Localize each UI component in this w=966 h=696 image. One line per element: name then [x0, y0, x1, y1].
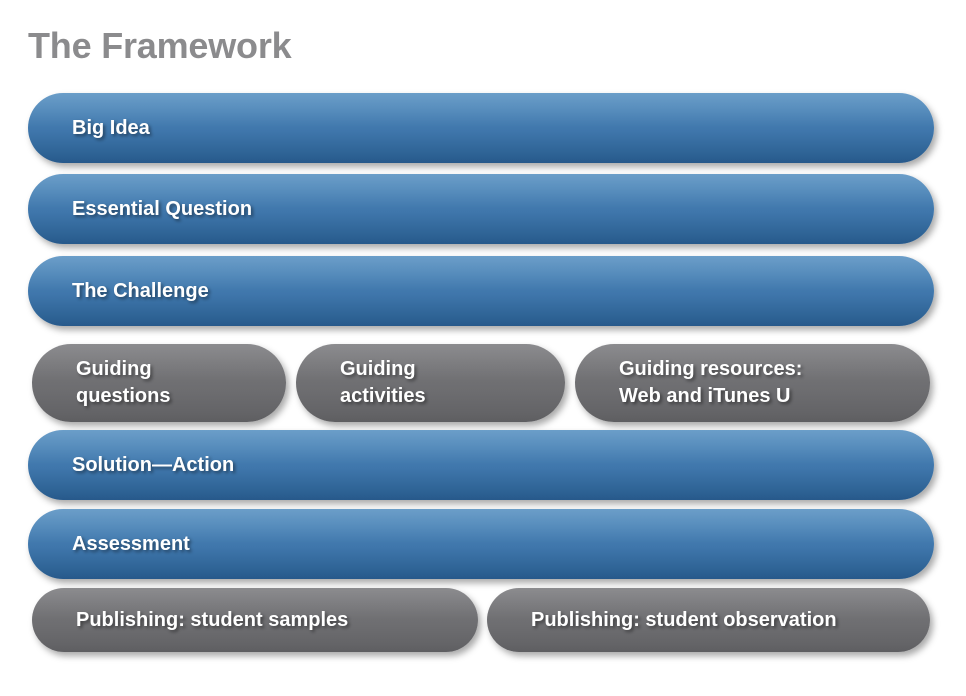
framework-row-label: Solution—Action [28, 453, 248, 478]
framework-row-label: Guiding resources: Web and iTunes U [575, 356, 816, 410]
framework-row-guiding-activities[interactable]: Guiding activities [296, 344, 565, 422]
framework-row-label: Guiding activities [296, 356, 440, 410]
framework-row-label: Big Idea [28, 116, 164, 141]
framework-row-publishing-student-samples[interactable]: Publishing: student samples [32, 588, 478, 652]
page-title: The Framework [28, 24, 291, 68]
framework-row-label: Publishing: student observation [487, 608, 851, 633]
framework-row-solution-action[interactable]: Solution—Action [28, 430, 934, 500]
framework-row-label: Guiding questions [32, 356, 184, 410]
framework-row-assessment[interactable]: Assessment [28, 509, 934, 579]
framework-row-big-idea[interactable]: Big Idea [28, 93, 934, 163]
framework-row-publishing-student-observation[interactable]: Publishing: student observation [487, 588, 930, 652]
framework-row-the-challenge[interactable]: The Challenge [28, 256, 934, 326]
framework-row-label: Essential Question [28, 197, 266, 222]
framework-row-guiding-resources[interactable]: Guiding resources: Web and iTunes U [575, 344, 930, 422]
framework-row-label: Publishing: student samples [32, 608, 362, 633]
framework-row-essential-question[interactable]: Essential Question [28, 174, 934, 244]
framework-slide: The Framework Big IdeaEssential Question… [0, 0, 966, 696]
framework-row-guiding-questions[interactable]: Guiding questions [32, 344, 286, 422]
framework-row-label: The Challenge [28, 279, 223, 304]
framework-row-label: Assessment [28, 532, 204, 557]
